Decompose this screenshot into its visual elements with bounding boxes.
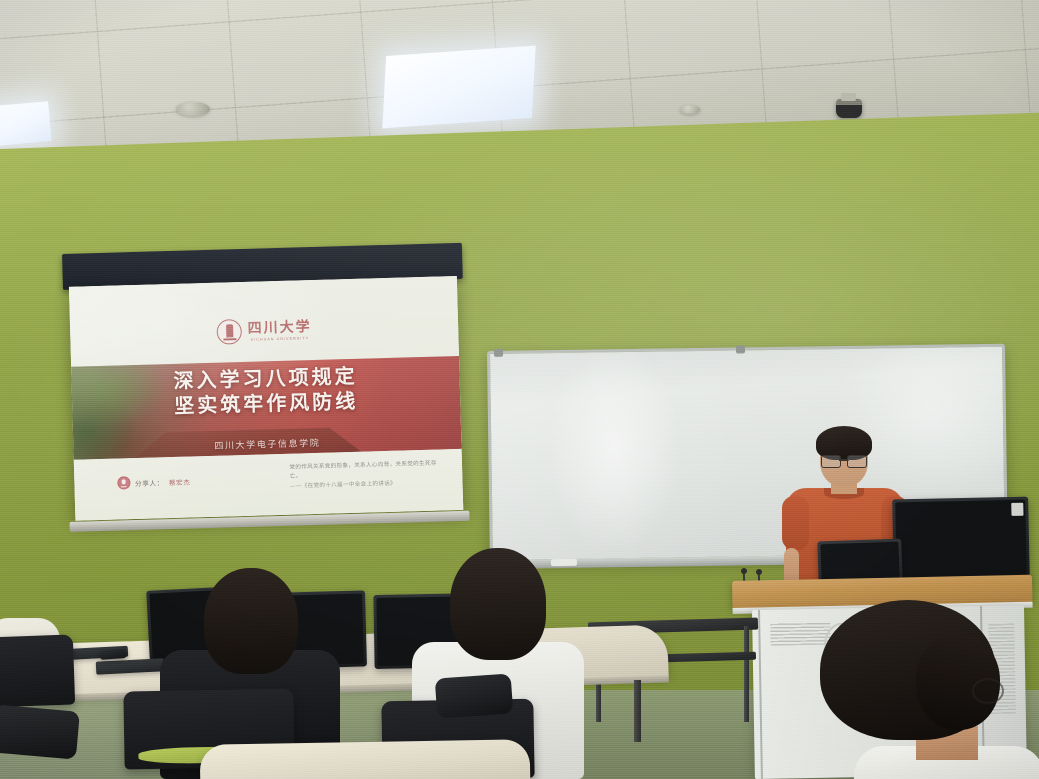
presenter-name: 蔡宏杰 (169, 476, 191, 487)
security-camera (836, 99, 862, 118)
classroom-photo: 四川大学 SICHUAN UNIVERSITY 深入学习八项规定 坚实筑牢作风防… (0, 0, 1039, 779)
phone-2[interactable] (100, 649, 127, 660)
glasses-lens-left (821, 455, 841, 468)
student-black-shirt-head (204, 568, 298, 674)
projection-screen[interactable]: 四川大学 SICHUAN UNIVERSITY 深入学习八项规定 坚实筑牢作风防… (62, 243, 470, 544)
university-name-en: SICHUAN UNIVERSITY (251, 336, 310, 342)
backpack-1[interactable] (435, 673, 514, 718)
podium-mic-2[interactable] (756, 569, 762, 575)
podium-monitor[interactable] (892, 497, 1030, 584)
chair-3[interactable] (0, 634, 75, 707)
student-foreground (820, 600, 1010, 779)
university-name-cn: 四川大学 (247, 320, 311, 336)
backpack-2[interactable] (0, 704, 80, 759)
screen-surface: 四川大学 SICHUAN UNIVERSITY 深入学习八项规定 坚实筑牢作风防… (69, 276, 463, 521)
bench-leg-right (744, 626, 749, 722)
podium-mic-1[interactable] (741, 568, 747, 574)
student-foreground-glasses (972, 678, 1004, 704)
presentation-slide: 四川大学 SICHUAN UNIVERSITY 深入学习八项规定 坚实筑牢作风防… (69, 276, 463, 521)
glasses-lens-right (847, 455, 867, 468)
laptop-screen (820, 542, 899, 583)
podium-monitor-screen (895, 500, 1027, 581)
slide-quote: 党的作风关系党的形象，关系人心向背，关系党的生死存亡。 ——《在党的十八届一中全… (289, 459, 445, 491)
monitor-brand-badge (1011, 503, 1023, 516)
smoke-detector-1 (176, 102, 210, 116)
whiteboard-clip-left (494, 349, 503, 357)
presenter-label: 分享人： (135, 477, 164, 488)
university-logo: 四川大学 SICHUAN UNIVERSITY (216, 317, 312, 345)
desk-leg-2 (634, 680, 641, 742)
university-wordmark: 四川大学 SICHUAN UNIVERSITY (247, 320, 312, 342)
student-white-shirt-head (450, 548, 546, 660)
ceiling-light-1 (0, 101, 52, 147)
desk-row-2[interactable] (200, 739, 531, 779)
presenter-sleeve-left (782, 496, 809, 550)
slide-presenter-row: 分享人： 蔡宏杰 (117, 475, 191, 490)
whiteboard-clip-center (736, 345, 745, 353)
slide-title-banner: 深入学习八项规定 坚实筑牢作风防线 四川大学电子信息学院 (71, 356, 461, 460)
slide-footer-area: 分享人： 蔡宏杰 党的作风关系党的形象，关系人心向背，关系党的生死存亡。 ——《… (74, 449, 464, 521)
smoke-detector-3 (680, 105, 700, 114)
university-seal-icon (216, 319, 242, 345)
podium-seam-left (758, 610, 763, 779)
microphone-icon (117, 477, 130, 490)
presenter-glasses (821, 455, 867, 466)
ceiling-light-2 (382, 46, 535, 129)
